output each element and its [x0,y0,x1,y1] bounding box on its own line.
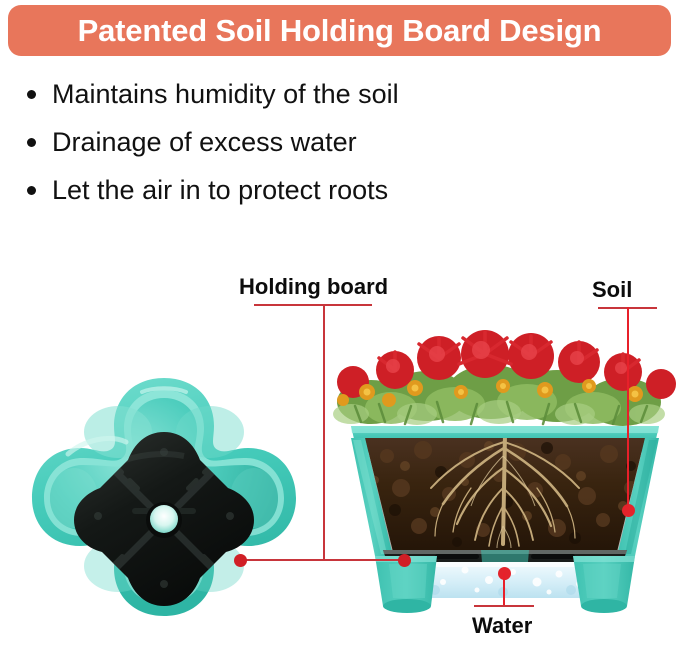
water-leader-foot [474,605,534,607]
feature-list: Maintains humidity of the soil Drainage … [22,70,542,214]
bullet-icon [27,138,36,147]
title-banner: Patented Soil Holding Board Design [8,5,671,56]
product-figure: Holding board Soil Water [0,255,679,646]
drainage-hole [150,505,178,533]
soil-marker [622,504,635,517]
bullet-icon [27,186,36,195]
list-item: Maintains humidity of the soil [22,70,542,118]
flower-canopy [333,330,676,426]
bullet-icon [27,90,36,99]
feature-text: Maintains humidity of the soil [52,79,399,109]
list-item: Let the air in to protect roots [22,166,542,214]
feature-text: Drainage of excess water [52,127,357,157]
soil-section [357,434,653,552]
callout-label-water: Water [472,613,532,639]
callout-label-holding-board: Holding board [239,274,388,300]
soil-leader-stem [627,307,629,510]
page-title: Patented Soil Holding Board Design [78,15,602,46]
holding-board-leader-span [240,559,405,561]
feature-text: Let the air in to protect roots [52,175,388,205]
holding-board-marker-left [234,554,247,567]
holding-board-leader-cap [254,304,372,306]
list-item: Drainage of excess water [22,118,542,166]
callout-label-soil: Soil [592,277,632,303]
planter-top-view-image [14,370,314,638]
holding-board-marker-right [398,554,411,567]
water-leader-stem [503,573,505,606]
holding-board-leader-stem [323,304,325,560]
